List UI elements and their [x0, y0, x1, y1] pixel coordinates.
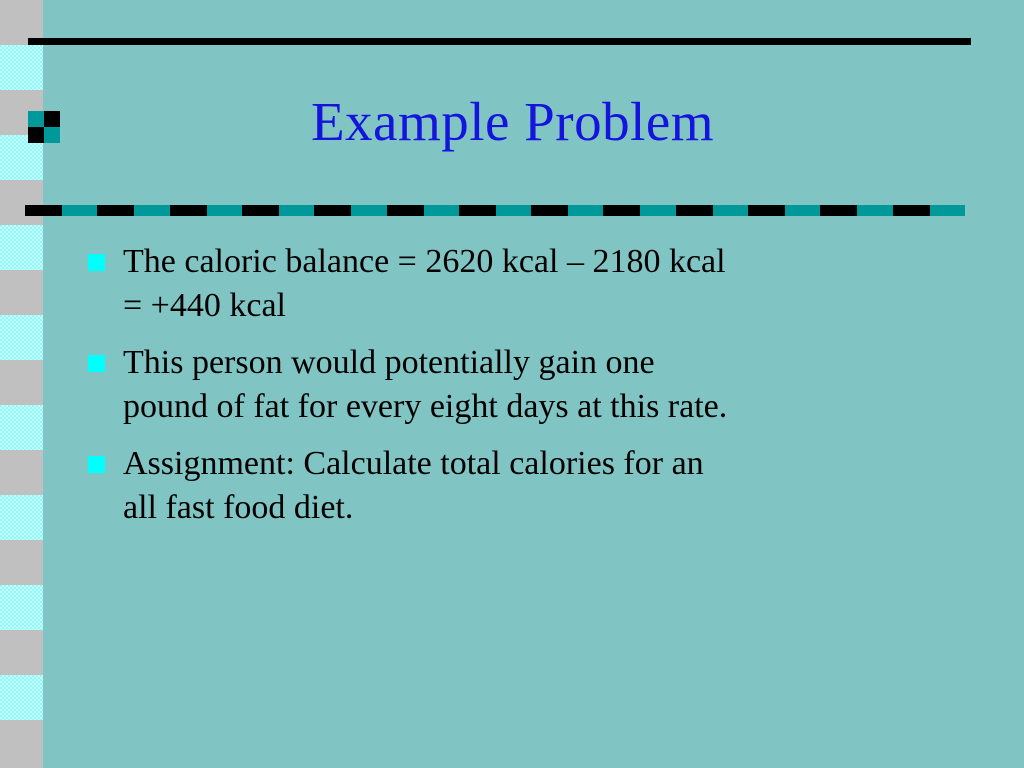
- list-item-text: The caloric balance = 2620 kcal – 2180 k…: [123, 240, 968, 327]
- logo-quadrant-bottom-right: [44, 127, 60, 143]
- sidebar-band: [0, 270, 43, 315]
- sidebar-band: [0, 360, 43, 405]
- divider-dash: [531, 205, 568, 216]
- slide-title: Example Problem: [60, 92, 965, 153]
- divider-dash: [603, 205, 640, 216]
- divider-dash: [748, 205, 785, 216]
- slide-canvas: Example Problem The caloric balance = 26…: [0, 0, 1024, 768]
- sidebar-band: [0, 495, 43, 540]
- dashed-divider: [25, 205, 965, 216]
- divider-dash: [676, 205, 713, 216]
- sidebar-band: [0, 45, 43, 90]
- sidebar-band: [0, 675, 43, 720]
- divider-dash: [170, 205, 207, 216]
- sidebar-band: [0, 315, 43, 360]
- list-item-line: The caloric balance = 2620 kcal – 2180 k…: [123, 240, 968, 284]
- top-horizontal-rule: [28, 38, 971, 45]
- list-item: This person would potentially gain one p…: [88, 341, 968, 428]
- list-item-text: This person would potentially gain one p…: [123, 341, 968, 428]
- square-bullet-icon: [88, 456, 105, 473]
- list-item-line: pound of fat for every eight days at thi…: [123, 385, 968, 429]
- square-bullet-icon: [88, 355, 105, 372]
- sidebar-band: [0, 630, 43, 675]
- checkered-logo-icon: [28, 111, 60, 143]
- square-bullet-icon: [88, 254, 105, 271]
- divider-dash: [387, 205, 424, 216]
- logo-quadrant-bottom-left: [28, 127, 44, 143]
- list-item-line: all fast food diet.: [123, 486, 968, 530]
- bullet-list: The caloric balance = 2620 kcal – 2180 k…: [88, 240, 968, 543]
- divider-dash: [242, 205, 279, 216]
- list-item: The caloric balance = 2620 kcal – 2180 k…: [88, 240, 968, 327]
- divider-dash: [25, 205, 62, 216]
- list-item-line: = +440 kcal: [123, 284, 968, 328]
- divider-dash: [97, 205, 134, 216]
- list-item-line: This person would potentially gain one: [123, 341, 968, 385]
- sidebar-band: [0, 450, 43, 495]
- divider-dash: [314, 205, 351, 216]
- sidebar-band: [0, 540, 43, 585]
- list-item-text: Assignment: Calculate total calories for…: [123, 442, 968, 529]
- divider-dash: [893, 205, 930, 216]
- list-item-line: Assignment: Calculate total calories for…: [123, 442, 968, 486]
- sidebar-band: [0, 405, 43, 450]
- divider-dash: [459, 205, 496, 216]
- sidebar-band: [0, 180, 43, 225]
- divider-dash: [820, 205, 857, 216]
- logo-quadrant-top-right: [44, 111, 60, 127]
- sidebar-band: [0, 585, 43, 630]
- sidebar-band: [0, 225, 43, 270]
- list-item: Assignment: Calculate total calories for…: [88, 442, 968, 529]
- logo-quadrant-top-left: [28, 111, 44, 127]
- sidebar-band: [0, 720, 43, 765]
